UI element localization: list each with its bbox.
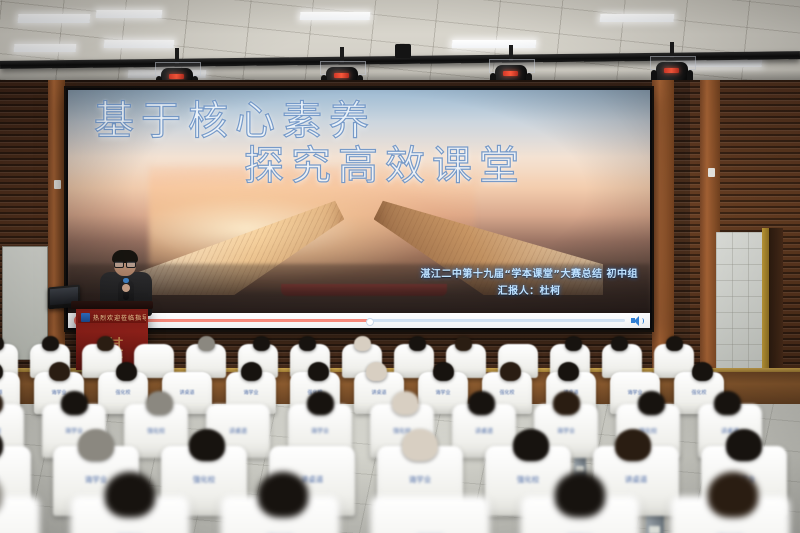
audience-member: [49, 362, 70, 381]
audience-member: [555, 472, 605, 517]
seat-cover-text: 强化校: [517, 474, 540, 485]
audience-member: [433, 362, 454, 381]
podium-banner: 热烈欢迎莅临指导: [78, 311, 146, 323]
seat-cover-text: 诲学业: [65, 426, 83, 435]
fluorescent-light: [104, 40, 175, 48]
audience-member: [500, 362, 521, 381]
audience-member: [714, 391, 741, 415]
audience-member: [553, 391, 580, 415]
audience-member: [409, 336, 426, 351]
slide-subtitle: 湛江二中第十九届“学本课堂”大赛总结 初中组 汇报人：杜柯: [420, 265, 638, 297]
seat-cover-text: 强化校: [147, 426, 165, 435]
slide-subtitle-line-2: 汇报人：杜柯: [420, 282, 638, 297]
audience-member: [708, 472, 758, 517]
seat-cover-text: 讲桌道: [229, 426, 247, 435]
audience-member: [61, 391, 88, 415]
seat-cover-text: 诲学业: [243, 389, 258, 396]
progress-handle[interactable]: [366, 318, 374, 326]
projection-screen: 基于核心素养 探究高效课堂 湛江二中第十九届“学本课堂”大赛总结 初中组 汇报人…: [66, 88, 652, 330]
audience-member: [615, 429, 651, 461]
seat-cover-text: 诲学业: [409, 474, 432, 485]
audience-member: [354, 336, 371, 351]
audience-member: [666, 336, 683, 351]
audience-member: [299, 336, 316, 351]
light-lens: [169, 74, 184, 79]
seat-cover-text: 诲学业: [557, 426, 575, 435]
volume-icon[interactable]: [631, 315, 644, 326]
audience-member: [146, 391, 173, 415]
audience-member: [565, 336, 582, 351]
light-lens: [334, 73, 349, 78]
volume-speaker-cone: [634, 316, 639, 326]
wall-trim-column: [48, 80, 65, 372]
school-logo-icon: [81, 313, 90, 322]
audience-member: [692, 362, 713, 381]
audience-seating: 讲桌道诲学业强化校讲桌道诲学业强化校讲桌道诲学业强化校讲桌道诲学业强化校讲桌道诲…: [0, 330, 800, 533]
audience-member: [468, 391, 495, 415]
seat-cover-text: 强化校: [115, 389, 130, 396]
audience-member: [105, 472, 155, 517]
audience-member: [392, 391, 419, 415]
progress-bar[interactable]: [91, 319, 625, 322]
seat-cover-text: 讲桌道: [0, 426, 1, 435]
audience-member: [366, 362, 387, 381]
fluorescent-light: [600, 14, 675, 22]
audience-member: [42, 336, 59, 351]
podium-banner-text: 热烈欢迎莅临指导: [93, 313, 146, 322]
seat-cover-text: 强化校: [193, 474, 216, 485]
eyeglasses: [114, 261, 136, 266]
fluorescent-light: [18, 14, 91, 23]
audience-member: [97, 336, 114, 351]
auditorium-photo: 基于核心素养 探究高效课堂 湛江二中第十九届“学本课堂”大赛总结 初中组 汇报人…: [0, 0, 800, 533]
audience-member: [611, 336, 628, 351]
fluorescent-light: [452, 40, 537, 48]
audience-member: [726, 429, 762, 461]
presentation-slide: 基于核心素养 探究高效课堂 湛江二中第十九届“学本课堂”大赛总结 初中组 汇报人…: [68, 90, 650, 313]
media-player-controls[interactable]: [68, 313, 650, 328]
fluorescent-light: [14, 44, 77, 52]
seat-cover[interactable]: 讲桌道: [0, 496, 40, 533]
audience-member: [189, 429, 225, 461]
audience-member: [241, 362, 262, 381]
seat-cover[interactable]: 讲桌道: [370, 496, 490, 533]
wall-trim-column: [652, 80, 674, 372]
podium-top: [71, 301, 153, 309]
audience-member: [638, 391, 665, 415]
wall-switch[interactable]: [708, 168, 715, 177]
audience-member: [116, 362, 137, 381]
audience-member: [307, 391, 334, 415]
seat-cover-text: 讲桌道: [179, 389, 194, 396]
seat-cover-text: 诲学业: [311, 426, 329, 435]
audience-member: [513, 429, 549, 461]
seat-cover-text: 讲桌道: [0, 389, 3, 396]
audience-member: [258, 472, 308, 517]
audience-member: [455, 336, 472, 351]
slide-subtitle-line-1: 湛江二中第十九届“学本课堂”大赛总结 初中组: [420, 265, 638, 280]
audience-member: [308, 362, 329, 381]
light-lens: [503, 71, 518, 76]
volume-wave: [640, 318, 644, 324]
seat-cover-text: 讲桌道: [625, 474, 648, 485]
presenter-hand: [122, 284, 130, 292]
seat-cover-text: 强化校: [691, 389, 706, 396]
audience-member: [253, 336, 270, 351]
truss-junction-box: [395, 44, 411, 58]
light-lens: [664, 68, 679, 73]
audience-member: [558, 362, 579, 381]
seat-cover-text: 强化校: [499, 389, 514, 396]
audience-member: [78, 429, 114, 461]
fluorescent-light: [300, 12, 371, 20]
seat-cover-text: 诲学业: [435, 389, 450, 396]
wall-switch[interactable]: [54, 180, 61, 189]
seat-cover-text: 讲桌道: [475, 426, 493, 435]
seat-cover-text: 讲桌道: [371, 389, 386, 396]
audience-member: [198, 336, 215, 351]
seat-cover-text: 诲学业: [85, 474, 108, 485]
audience-member: [402, 429, 438, 461]
fluorescent-light: [96, 10, 163, 18]
